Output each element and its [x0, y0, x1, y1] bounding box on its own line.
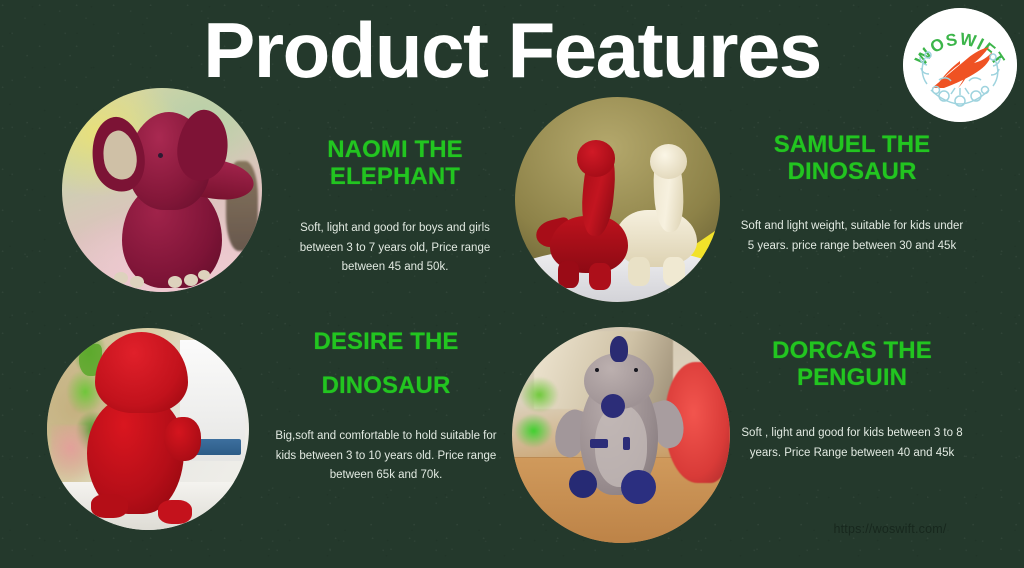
photo-detail	[615, 210, 697, 267]
crochet-red-dinosaur-photo	[47, 328, 249, 530]
feature-dorcas-the-penguin: DORCAS THE PENGUIN Soft , light and good…	[738, 337, 966, 463]
photo-detail	[621, 470, 656, 505]
photo-detail	[164, 417, 200, 461]
photo-detail	[558, 261, 579, 288]
photo-detail	[198, 270, 210, 280]
photo-scene	[512, 327, 730, 543]
feature-description: Soft , light and good for kids between 3…	[738, 424, 966, 463]
feature-description: Soft and light weight, suitable for kids…	[738, 217, 966, 256]
photo-detail	[114, 272, 128, 284]
photo-detail	[158, 500, 192, 524]
photo-detail	[184, 274, 198, 286]
photo-detail	[650, 144, 687, 179]
feature-heading: NAOMI THE ELEPHANT	[281, 136, 509, 190]
feature-heading: SAMUEL THE DINOSAUR	[738, 131, 966, 185]
woswift-logo[interactable]: WOSWIFT	[903, 8, 1017, 122]
crochet-dinosaurs-photo	[515, 97, 720, 302]
crochet-elephant-photo	[62, 88, 262, 292]
photo-detail	[628, 257, 651, 286]
photo-detail	[577, 140, 616, 177]
page-title: Product Features	[0, 8, 1024, 92]
photo-scene	[515, 97, 720, 302]
feature-desire-the-dinosaur: DESIRE THE DINOSAUR Big,soft and comfort…	[272, 320, 500, 486]
photo-detail	[569, 470, 597, 498]
product-features-poster: Product Features WOSWIFT	[0, 0, 1024, 568]
crochet-penguin-photo	[512, 327, 730, 543]
photo-detail	[610, 336, 627, 362]
photo-detail	[91, 494, 127, 518]
photo-detail	[663, 257, 686, 286]
logo-artwork: WOSWIFT	[903, 8, 1017, 122]
feature-description: Soft, light and good for boys and girls …	[281, 219, 509, 278]
photo-detail	[623, 437, 630, 450]
photo-detail	[595, 368, 599, 372]
photo-detail	[590, 439, 607, 448]
feature-samuel-the-dinosaur: SAMUEL THE DINOSAUR Soft and light weigh…	[738, 131, 966, 256]
photo-detail	[130, 276, 144, 288]
photo-detail	[601, 394, 625, 418]
photo-detail	[589, 263, 612, 290]
photo-detail	[168, 276, 182, 288]
photo-scene	[47, 328, 249, 530]
feature-naomi-the-elephant: NAOMI THE ELEPHANT Soft, light and good …	[281, 136, 509, 278]
website-url[interactable]: https://woswift.com/	[790, 522, 990, 536]
feature-heading: DORCAS THE PENGUIN	[738, 337, 966, 391]
feature-description: Big,soft and comfortable to hold suitabl…	[272, 427, 500, 486]
photo-scene	[62, 88, 262, 292]
photo-detail	[95, 332, 188, 413]
feature-heading: DESIRE THE DINOSAUR	[272, 320, 500, 408]
